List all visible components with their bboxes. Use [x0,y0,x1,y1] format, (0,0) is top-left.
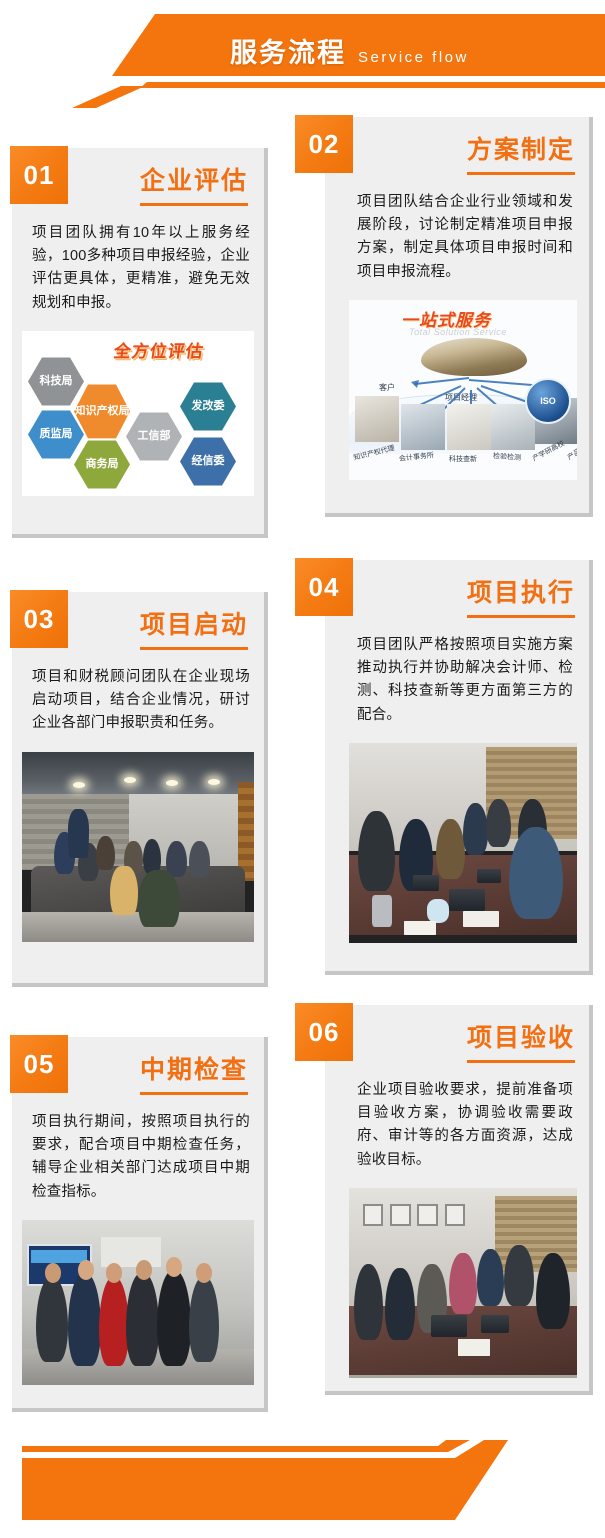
card-title-02: 方案制定 [467,137,575,175]
card-media-01: 全方位评估 科技局 知识产权局 质监局 商务局 工信部 发改委 经信委 [22,331,254,496]
card-number-badge-05: 05 [10,1035,68,1093]
photo-midterm-visit [22,1220,254,1385]
hexagon-diagram-heading: 全方位评估 [112,337,206,362]
card-number-badge-06: 06 [295,1003,353,1061]
card-body-02: 项目团队结合企业行业领域和发展阶段，讨论制定精准项目申报方案，制定具体项目申报时… [325,175,589,295]
flow-card-01[interactable]: 01 企业评估 项目团队拥有10年以上服务经验，100多种项目申报经验，企业评估… [12,148,268,538]
flow-card-06[interactable]: 06 项目验收 企业项目验收要求，提前准备项目验收方案，协调验收需要政府、审计等… [325,1005,593,1395]
card-header-06: 项目验收 [325,1005,589,1063]
card-number-badge-02: 02 [295,115,353,173]
oss-tile-search [447,404,491,450]
card-body-01: 项目团队拥有10年以上服务经验，100多种项目申报经验，企业评估更具体，更精准，… [12,206,264,326]
card-body-03: 项目和财税顾问团队在企业现场启动项目，结合企业情况，研讨企业各部门申报职责和任务… [12,650,264,746]
oss-label-search: 科技查新 [449,454,477,464]
header-banner-shape [0,0,605,108]
page-header: 服务流程 Service flow [0,0,605,108]
card-title-01: 企业评估 [140,168,248,206]
card-body-05: 项目执行期间，按照项目执行的要求，配合项目中期检查任务，辅导企业相关部门达成项目… [12,1095,264,1215]
hex-node-fagai: 发改委 [180,381,236,431]
card-media-04 [349,743,577,943]
service-flow-poster: 服务流程 Service flow 01 企业评估 项目团队拥有10年以上服务经… [0,0,605,1538]
card-title-06: 项目验收 [467,1025,575,1063]
photo-acceptance-meeting [349,1188,577,1378]
footer-banner-shape [0,1420,605,1538]
card-title-03: 项目启动 [140,612,248,650]
card-body-06: 企业项目验收要求，提前准备项目验收方案，协调验收需要政府、审计等的各方面资源，达… [325,1063,589,1183]
hex-node-gongxin: 工信部 [126,411,182,461]
flow-card-04[interactable]: 04 项目执行 项目团队严格按照项目实施方案推动执行并协助解决会计师、检测、科技… [325,560,593,975]
oss-tile-ip [355,396,399,442]
flow-card-02[interactable]: 02 方案制定 项目团队结合企业行业领域和发展阶段，讨论制定精准项目申报方案，制… [325,117,593,517]
card-media-05 [22,1220,254,1385]
hex-node-keji: 科技局 [28,356,84,406]
card-media-02: 一站式服务 Total Solution Service 客户 项目经理 [349,300,577,480]
page-footer: 全国统一热线： 400-150-1560 [0,1420,605,1538]
flow-card-05[interactable]: 05 中期检查 项目执行期间，按照项目执行的要求，配合项目中期检查任务，辅导企业… [12,1037,268,1412]
card-header-04: 项目执行 [325,560,589,618]
hex-node-zhijian: 质监局 [28,409,84,459]
card-media-06 [349,1188,577,1378]
card-title-05: 中期检查 [140,1057,248,1095]
card-body-04: 项目团队严格按照项目实施方案推动执行并协助解决会计师、检测、科技查新等更方面第三… [325,618,589,738]
hex-node-jingxin: 经信委 [180,436,236,486]
card-number-badge-03: 03 [10,590,68,648]
photo-kickoff-meeting [22,752,254,942]
card-number-badge-04: 04 [295,558,353,616]
hex-node-shangwu: 商务局 [74,439,130,489]
hexagon-diagram: 全方位评估 科技局 知识产权局 质监局 商务局 工信部 发改委 经信委 [22,331,254,496]
card-media-03 [22,752,254,942]
oss-tile-accounting [401,404,445,450]
photo-execution-meeting [349,743,577,943]
one-stop-service-diagram: 一站式服务 Total Solution Service 客户 项目经理 [349,300,577,480]
card-number-badge-01: 01 [10,146,68,204]
card-title-04: 项目执行 [467,580,575,618]
card-header-02: 方案制定 [325,117,589,175]
flow-card-03[interactable]: 03 项目启动 项目和财税顾问团队在企业现场启动项目，结合企业情况，研讨企业各部… [12,592,268,987]
hex-node-ip: 知识产权局 [74,383,130,439]
